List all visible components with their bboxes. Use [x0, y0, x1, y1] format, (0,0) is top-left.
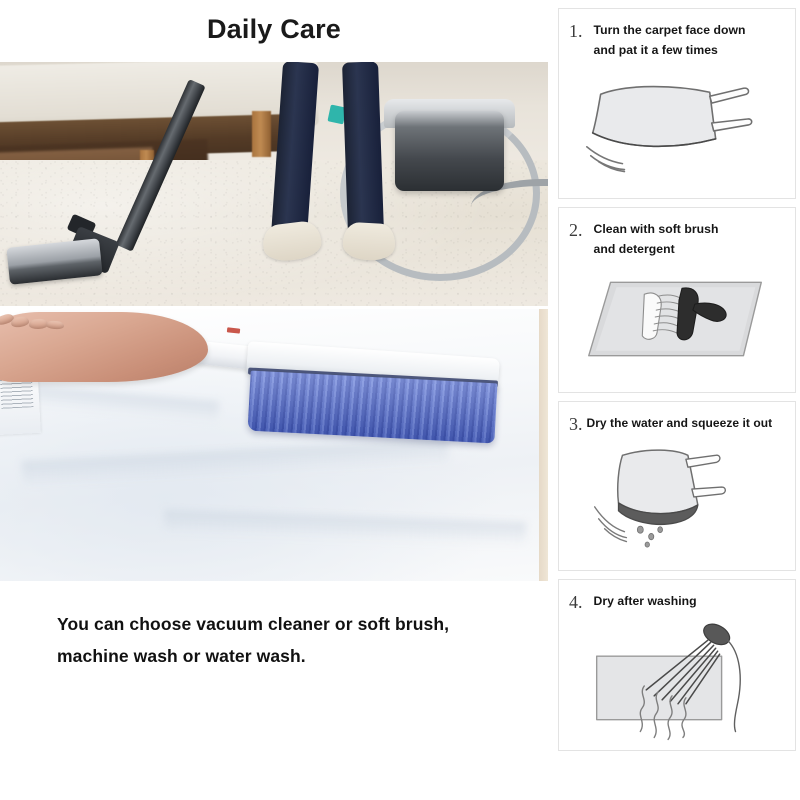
step-2-number: 2. [569, 220, 583, 239]
step-3-number: 3. [569, 414, 583, 433]
human-hand [0, 312, 208, 383]
step-4-number: 4. [569, 592, 583, 611]
step-1-header: 1. Turn the carpet face down and pat it … [559, 9, 795, 61]
step-2-header: 2. Clean with soft brush and detergent [559, 208, 795, 260]
step-panel-3: 3. Dry the water and squeeze it out [558, 401, 796, 571]
shower-rinse-icon [559, 612, 795, 742]
carpet-shake-icon [559, 61, 795, 181]
step-4-text: Dry after washing [594, 592, 697, 612]
step-4-header: 4. Dry after washing [559, 580, 795, 612]
finger [46, 320, 64, 330]
step-panel-4: 4. Dry after washing [558, 579, 796, 751]
care-instruction-caption: You can choose vacuum cleaner or soft br… [57, 608, 527, 673]
care-steps-list: 1. Turn the carpet face down and pat it … [558, 8, 796, 759]
vacuum-canister [395, 111, 505, 192]
squeeze-water-icon [559, 433, 795, 553]
step-3-text: Dry the water and squeeze it out [587, 414, 773, 433]
brush-on-mat-icon [559, 260, 795, 380]
person-leg-right [342, 62, 384, 233]
furniture-leg [252, 111, 271, 157]
step-panel-1: 1. Turn the carpet face down and pat it … [558, 8, 796, 199]
brush-blue-bristles [248, 371, 497, 444]
step-2-text: Clean with soft brush and detergent [594, 220, 719, 260]
white-sock-right [342, 222, 396, 261]
step-1-text: Turn the carpet face down and pat it a f… [594, 21, 746, 61]
photo-right-edge [539, 309, 548, 581]
step-1-number: 1. [569, 21, 583, 40]
finger [28, 319, 47, 330]
vacuum-cleaner-photo [0, 62, 548, 306]
finger [10, 316, 29, 329]
soft-brush-photo [0, 309, 548, 581]
step-panel-2: 2. Clean with soft brush and detergent [558, 207, 796, 393]
page-title: Daily Care [0, 14, 548, 45]
step-3-header: 3. Dry the water and squeeze it out [559, 402, 795, 433]
